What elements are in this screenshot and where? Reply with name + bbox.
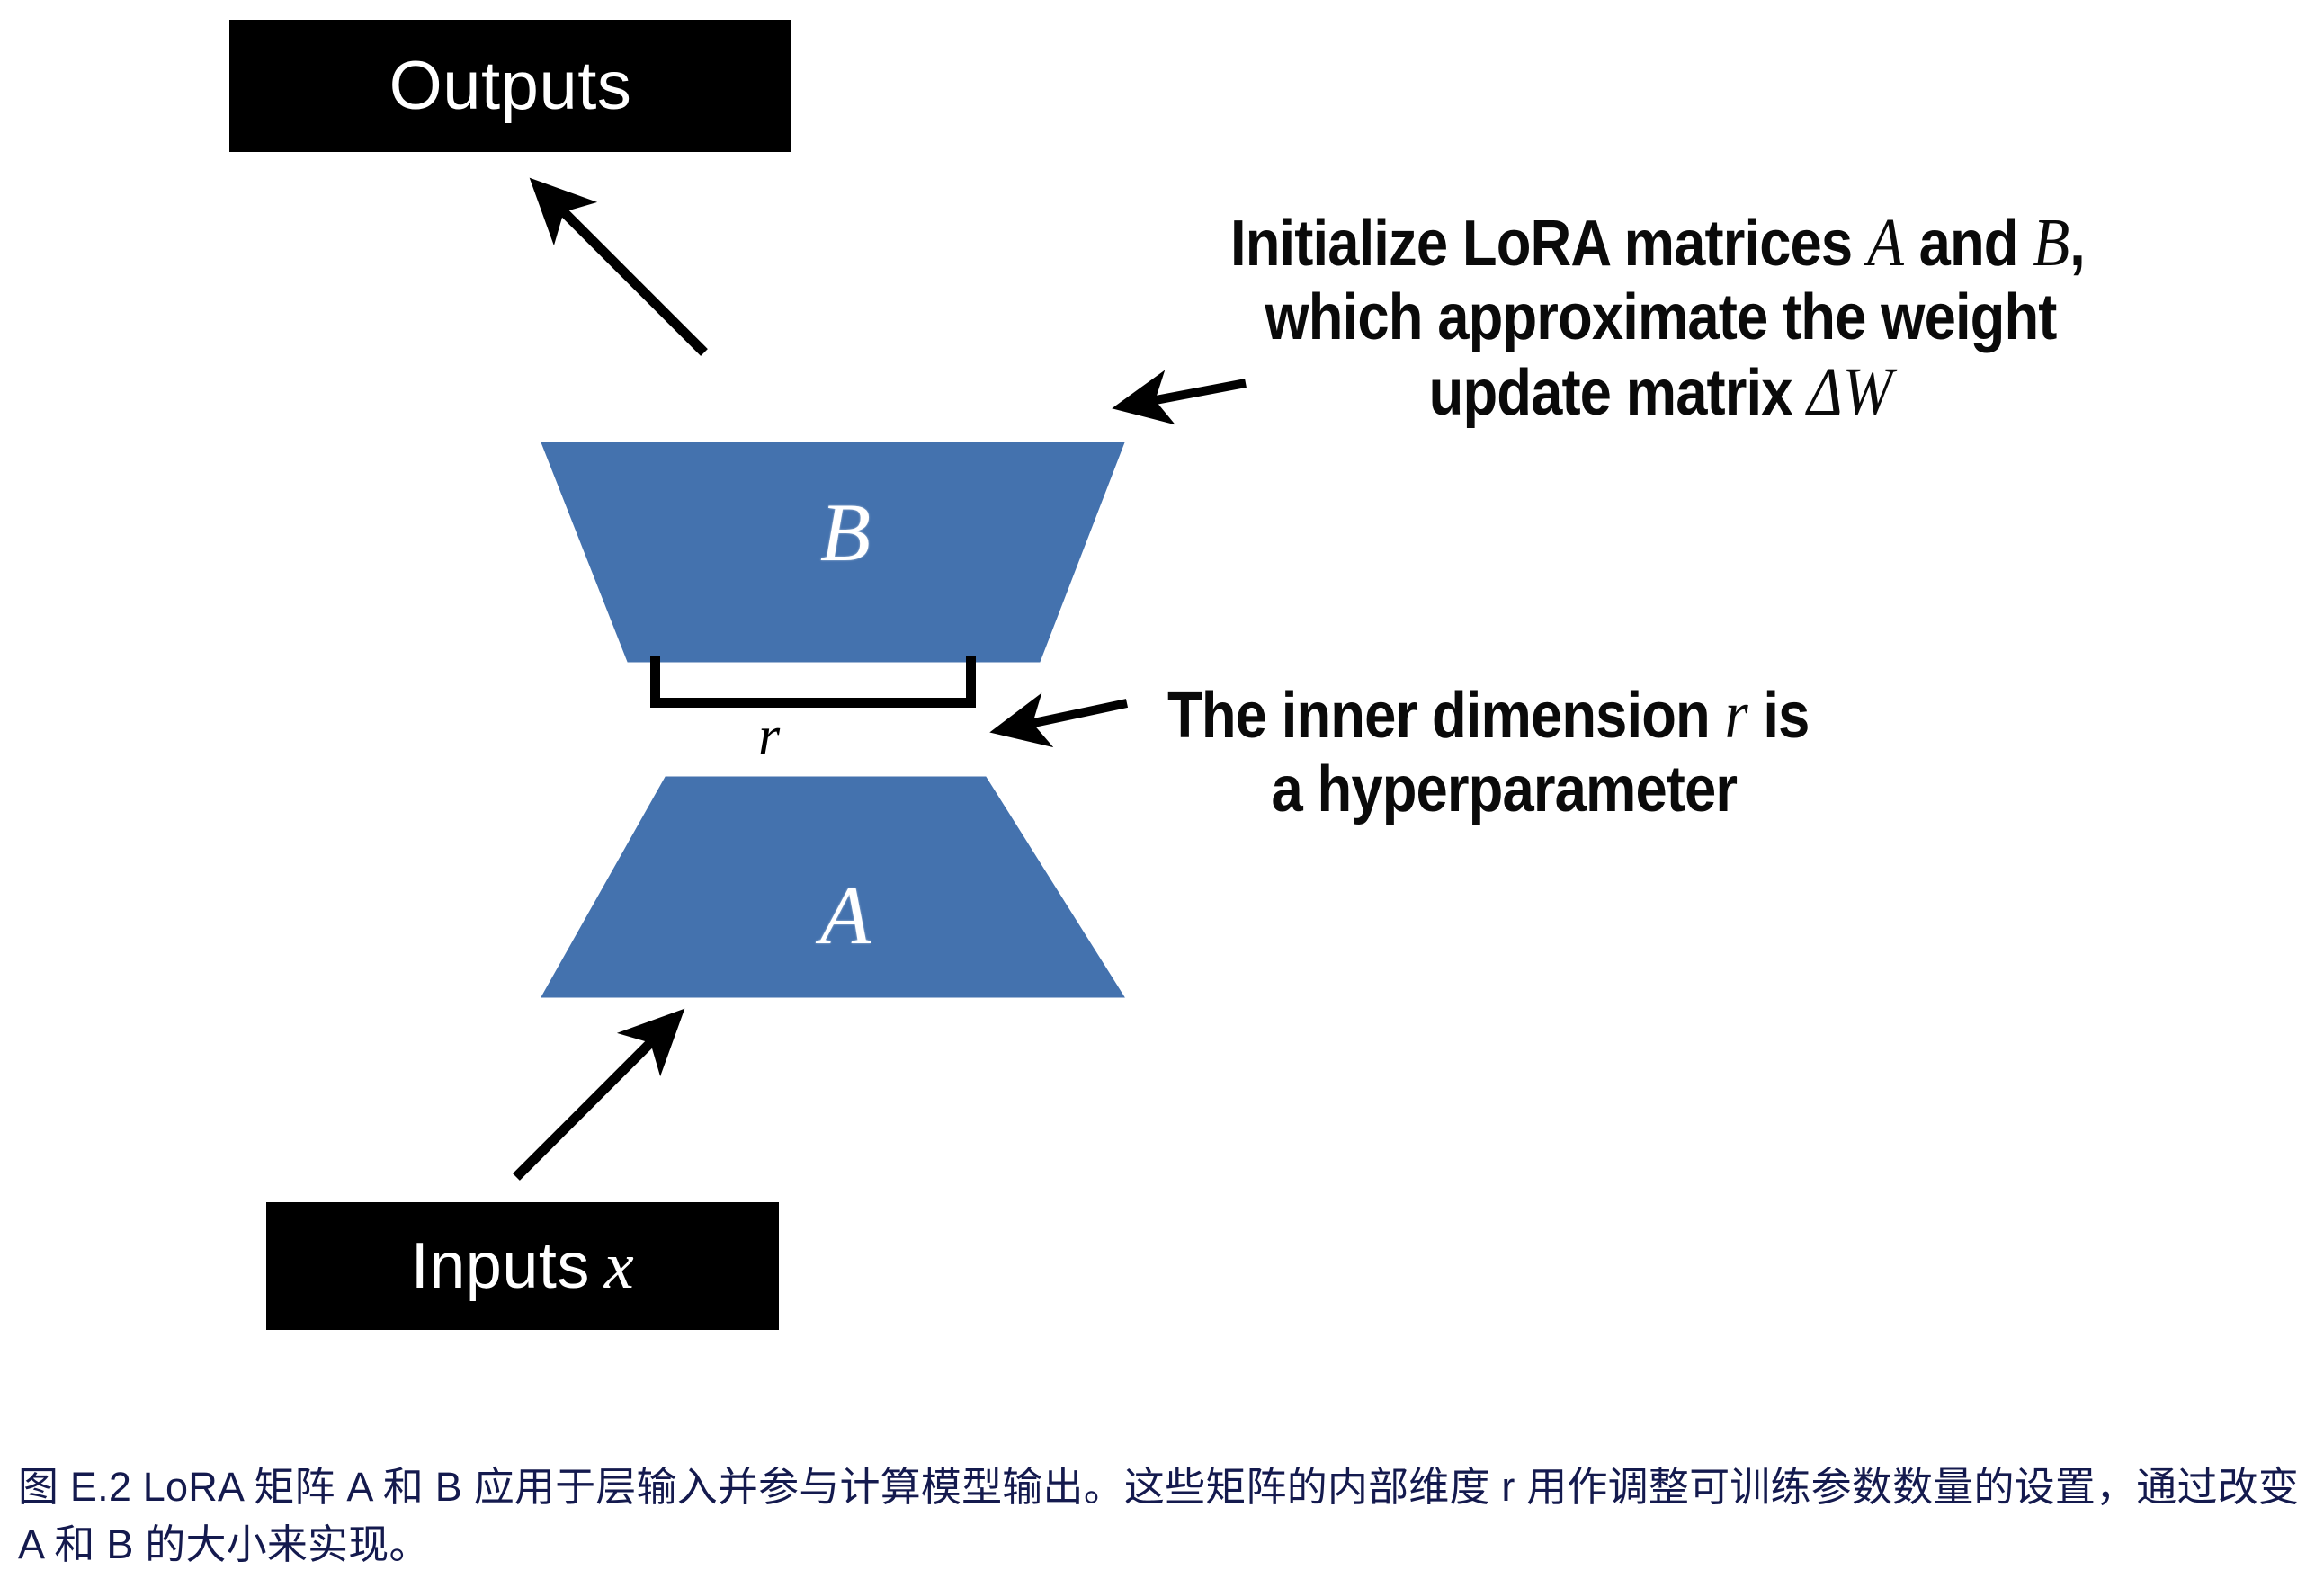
annotation-inner-dimension: The inner dimension r is a hyperparamete… xyxy=(1167,677,1809,826)
annotation-initialize: Initialize LoRA matrices A and B, which … xyxy=(1230,205,2085,431)
annotation-initialize-math-b: B xyxy=(2033,205,2069,281)
annotation-inner-dimension-line2: a hyperparameter xyxy=(1167,754,1809,826)
arrow-b-to-outputs xyxy=(538,186,704,352)
inputs-variable: x xyxy=(604,1228,634,1305)
figure-caption: 图 E.2 LoRA 矩阵 A 和 B 应用于层输入并参与计算模型输出。这些矩阵… xyxy=(18,1459,2307,1574)
inner-dimension-bracket xyxy=(650,656,976,708)
annotation-inner-dimension-math-r: r xyxy=(1725,677,1748,753)
outputs-label: Outputs xyxy=(389,47,632,125)
arrow-annotation-to-r xyxy=(1000,703,1127,730)
annotation-inner-dimension-line1: The inner dimension r is xyxy=(1167,677,1809,754)
annotation-initialize-line1-text-c: , xyxy=(2069,208,2085,280)
inner-dimension-label: r xyxy=(758,709,780,764)
annotation-initialize-math-a: A xyxy=(1867,205,1904,281)
annotation-initialize-line2: which approximate the weight xyxy=(1230,281,2085,354)
inputs-label: Inputs xyxy=(411,1229,590,1303)
inputs-box: Inputsx xyxy=(266,1202,779,1330)
annotation-inner-dimension-text-a: The inner dimension xyxy=(1167,680,1725,752)
lora-diagram-canvas: Outputs Inputsx B A r xyxy=(0,0,2324,1430)
outputs-box: Outputs xyxy=(229,20,791,152)
matrix-a-trapezoid-svg xyxy=(536,775,1130,1000)
matrix-b-shape: B xyxy=(536,441,1130,665)
annotation-initialize-line1: Initialize LoRA matrices A and B, xyxy=(1230,205,2085,281)
annotation-initialize-delta-w: ΔW xyxy=(1807,354,1892,430)
annotation-inner-dimension-text-b: is xyxy=(1748,680,1810,752)
annotation-initialize-line1-text-a: Initialize LoRA matrices xyxy=(1230,208,1867,280)
arrow-annotation-to-b xyxy=(1122,383,1246,406)
annotation-initialize-line1-text-b: and xyxy=(1904,208,2033,280)
annotation-initialize-line3: update matrix ΔW xyxy=(1230,354,2085,431)
annotation-initialize-line3-text: update matrix xyxy=(1429,357,1808,429)
matrix-b-trapezoid-svg xyxy=(536,441,1130,665)
matrix-a-shape: A xyxy=(536,775,1130,1000)
arrow-inputs-to-a xyxy=(516,1017,676,1177)
